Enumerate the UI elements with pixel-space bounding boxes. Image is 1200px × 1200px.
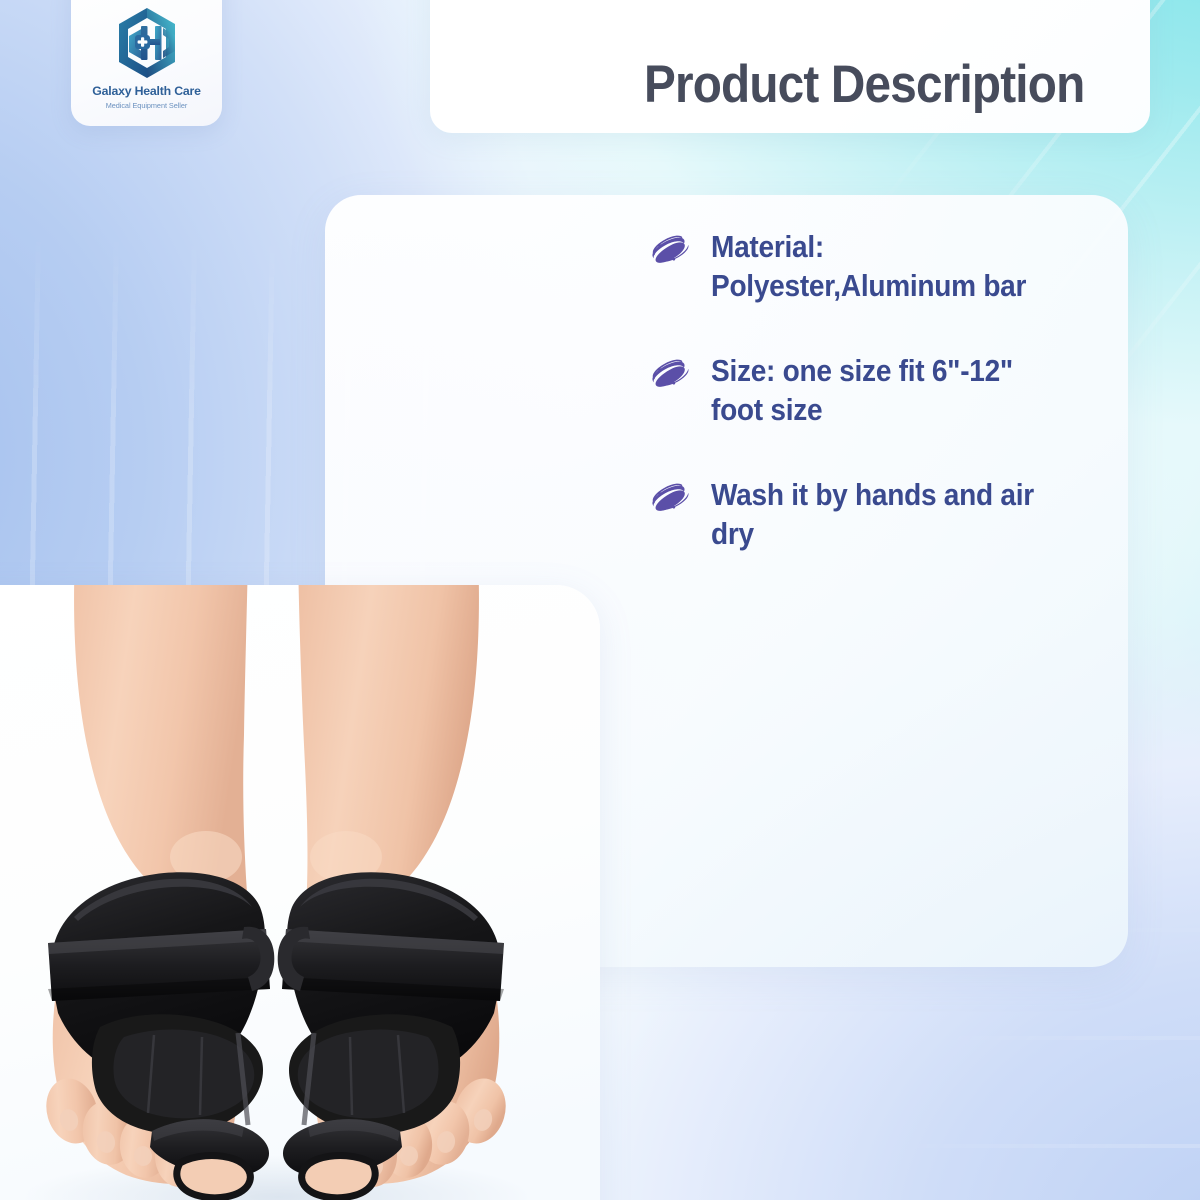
product-photo-card (0, 585, 600, 1200)
feature-text: Size: one size fit 6"-12" foot size (711, 352, 1035, 430)
brand-tagline: Medical Equipment Seller (106, 101, 188, 110)
product-photo (0, 585, 600, 1200)
list-item: Size: one size fit 6"-12" foot size (643, 352, 1063, 430)
brand-logo-card[interactable]: Galaxy Health Care Medical Equipment Sel… (71, 0, 222, 126)
swirl-globe-bullet-icon (643, 480, 689, 520)
brand-name: Galaxy Health Care (92, 85, 201, 97)
page-title-card: Product Description (430, 0, 1150, 133)
swirl-globe-bullet-icon (643, 232, 689, 272)
list-item: Material: Polyester,Aluminum bar (643, 228, 1063, 306)
ghc-hexagon-monogram-icon (105, 6, 189, 80)
list-item: Wash it by hands and air dry (643, 476, 1063, 554)
feature-text: Material: Polyester,Aluminum bar (711, 228, 1035, 306)
bunion-corrector-product-illustration (0, 585, 600, 1200)
swirl-globe-bullet-icon (643, 356, 689, 396)
feature-list: Material: Polyester,Aluminum bar Size: o… (643, 228, 1063, 554)
feature-text: Wash it by hands and air dry (711, 476, 1035, 554)
page-title: Product Description (644, 58, 1084, 111)
